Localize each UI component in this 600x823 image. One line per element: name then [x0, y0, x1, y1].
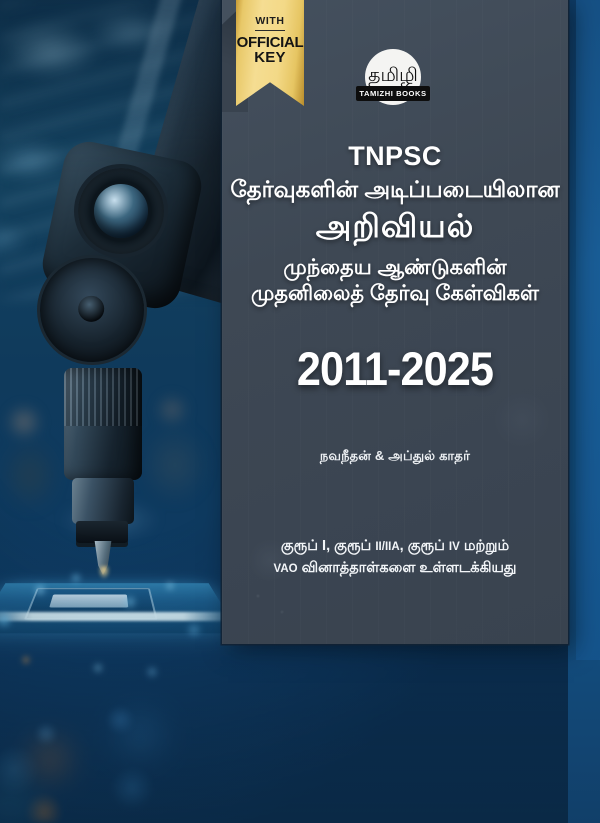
title-block: TNPSC தேர்வுகளின் அடிப்படையிலான அறிவியல்…: [222, 143, 568, 308]
subject-title: அறிவியல்: [222, 207, 568, 245]
title-line-2: தேர்வுகளின் அடிப்படையிலான: [222, 175, 568, 203]
logo-tamil-glyph: தமிழி: [368, 66, 418, 85]
title-line-4: முந்தைய ஆண்டுகளின்: [222, 255, 568, 281]
right-blue-strip-inner: [576, 0, 600, 660]
title-line-5: முதனிலைத் தேர்வு கேள்விகள்: [222, 281, 568, 307]
scope-line-2: VAO வினாத்தாள்களை உள்ளடக்கியது: [222, 557, 568, 579]
scope-groups-end: மற்றும்: [460, 538, 509, 554]
scope-vao: VAO: [274, 563, 298, 575]
exam-board-title: TNPSC: [222, 143, 568, 171]
scope-groups-post: , குரூப்: [400, 538, 449, 554]
scope-group-2: II/IIA: [375, 541, 399, 553]
scope-line-1: குரூப் I, குரூப் II/IIA, குரூப் IV மற்று…: [222, 535, 568, 557]
logo-brand-label: TAMIZHI BOOKS: [359, 89, 426, 98]
publisher-logo: தமிழி TAMIZHI BOOKS: [365, 49, 421, 105]
ribbon-with-label: WITH: [255, 16, 284, 31]
authors-line: நவநீதன் & அப்துல் காதர்: [222, 448, 568, 465]
scope-groups-pre: குரூப் I, குரூப்: [281, 538, 376, 554]
book-cover: WITH OFFICIAL KEY தமிழி TAMIZHI BOOKS TN…: [0, 0, 600, 823]
scope-block: குரூப் I, குரூப் II/IIA, குரூப் IV மற்று…: [222, 535, 568, 580]
year-range: 2011-2025: [236, 341, 554, 396]
ribbon-key-label: KEY: [254, 50, 285, 66]
logo-brand-band: TAMIZHI BOOKS: [356, 86, 430, 101]
ribbon-official-label: OFFICIAL: [237, 35, 304, 51]
scope-group-4: IV: [449, 541, 460, 553]
scope-vao-text: வினாத்தாள்களை உள்ளடக்கியது: [298, 560, 517, 576]
